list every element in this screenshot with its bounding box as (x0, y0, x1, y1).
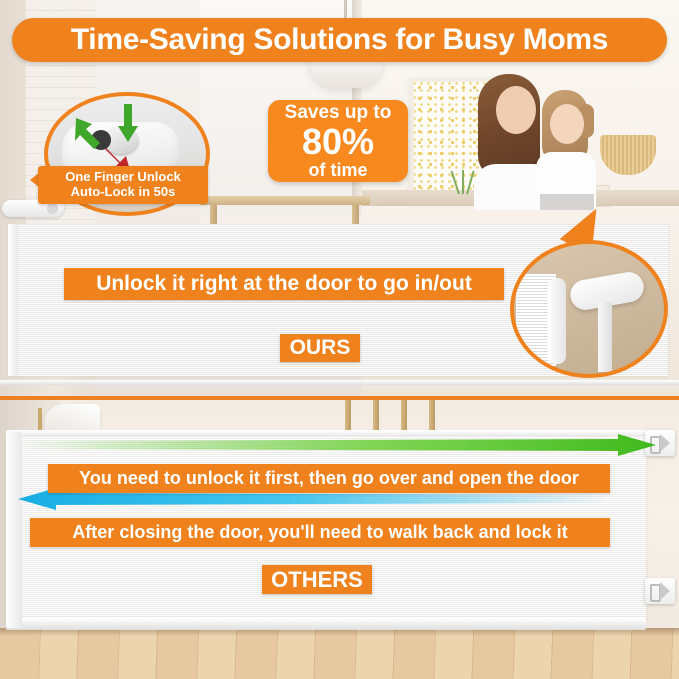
lock-caption-line1: One Finger Unlock (38, 169, 208, 184)
wall-bracket-bottom (645, 578, 675, 604)
lock-caption-line2: Auto-Lock in 50s (38, 184, 208, 199)
badge-line1: Saves up to (285, 103, 392, 123)
badge-percent: 80% (302, 123, 374, 161)
lock-callout: One Finger Unlock Auto-Lock in 50s (44, 92, 202, 208)
gate-latch-callout (510, 240, 660, 370)
latch-photo-circle (510, 240, 668, 378)
others-gate-bottom-rail (6, 618, 646, 630)
gate-bottom-rail (0, 380, 679, 385)
page-title: Time-Saving Solutions for Busy Moms (71, 23, 608, 57)
product-comparison-graphic: Time-Saving Solutions for Busy Moms One … (0, 0, 679, 679)
mother-and-child-photo (470, 68, 620, 208)
badge-line3: of time (308, 161, 367, 180)
others-label-banner: OTHERS (262, 565, 372, 594)
others-step1-text: You need to unlock it first, then go ove… (79, 468, 579, 489)
others-step2-banner: After closing the door, you'll need to w… (30, 518, 610, 547)
others-gate-left-post (6, 432, 22, 628)
latch-post (548, 278, 566, 364)
ours-headline-text: Unlock it right at the door to go in/out (96, 272, 472, 296)
green-right-arrow (18, 434, 656, 456)
latch-stem (598, 302, 612, 372)
child-face (550, 104, 584, 144)
ours-headline-banner: Unlock it right at the door to go in/out (64, 268, 504, 300)
title-banner: Time-Saving Solutions for Busy Moms (12, 18, 667, 62)
others-step1-banner: You need to unlock it first, then go ove… (48, 464, 610, 493)
mother-face (496, 86, 536, 134)
others-label-text: OTHERS (271, 567, 363, 593)
others-step2-text: After closing the door, you'll need to w… (72, 522, 567, 543)
lock-caption: One Finger Unlock Auto-Lock in 50s (38, 166, 208, 204)
ours-label-text: OURS (290, 336, 351, 360)
savings-badge: Saves up to 80% of time (268, 100, 408, 182)
ours-label-banner: OURS (280, 334, 360, 362)
wood-shelf (200, 196, 370, 205)
gate-mesh-left-edge (8, 224, 18, 376)
